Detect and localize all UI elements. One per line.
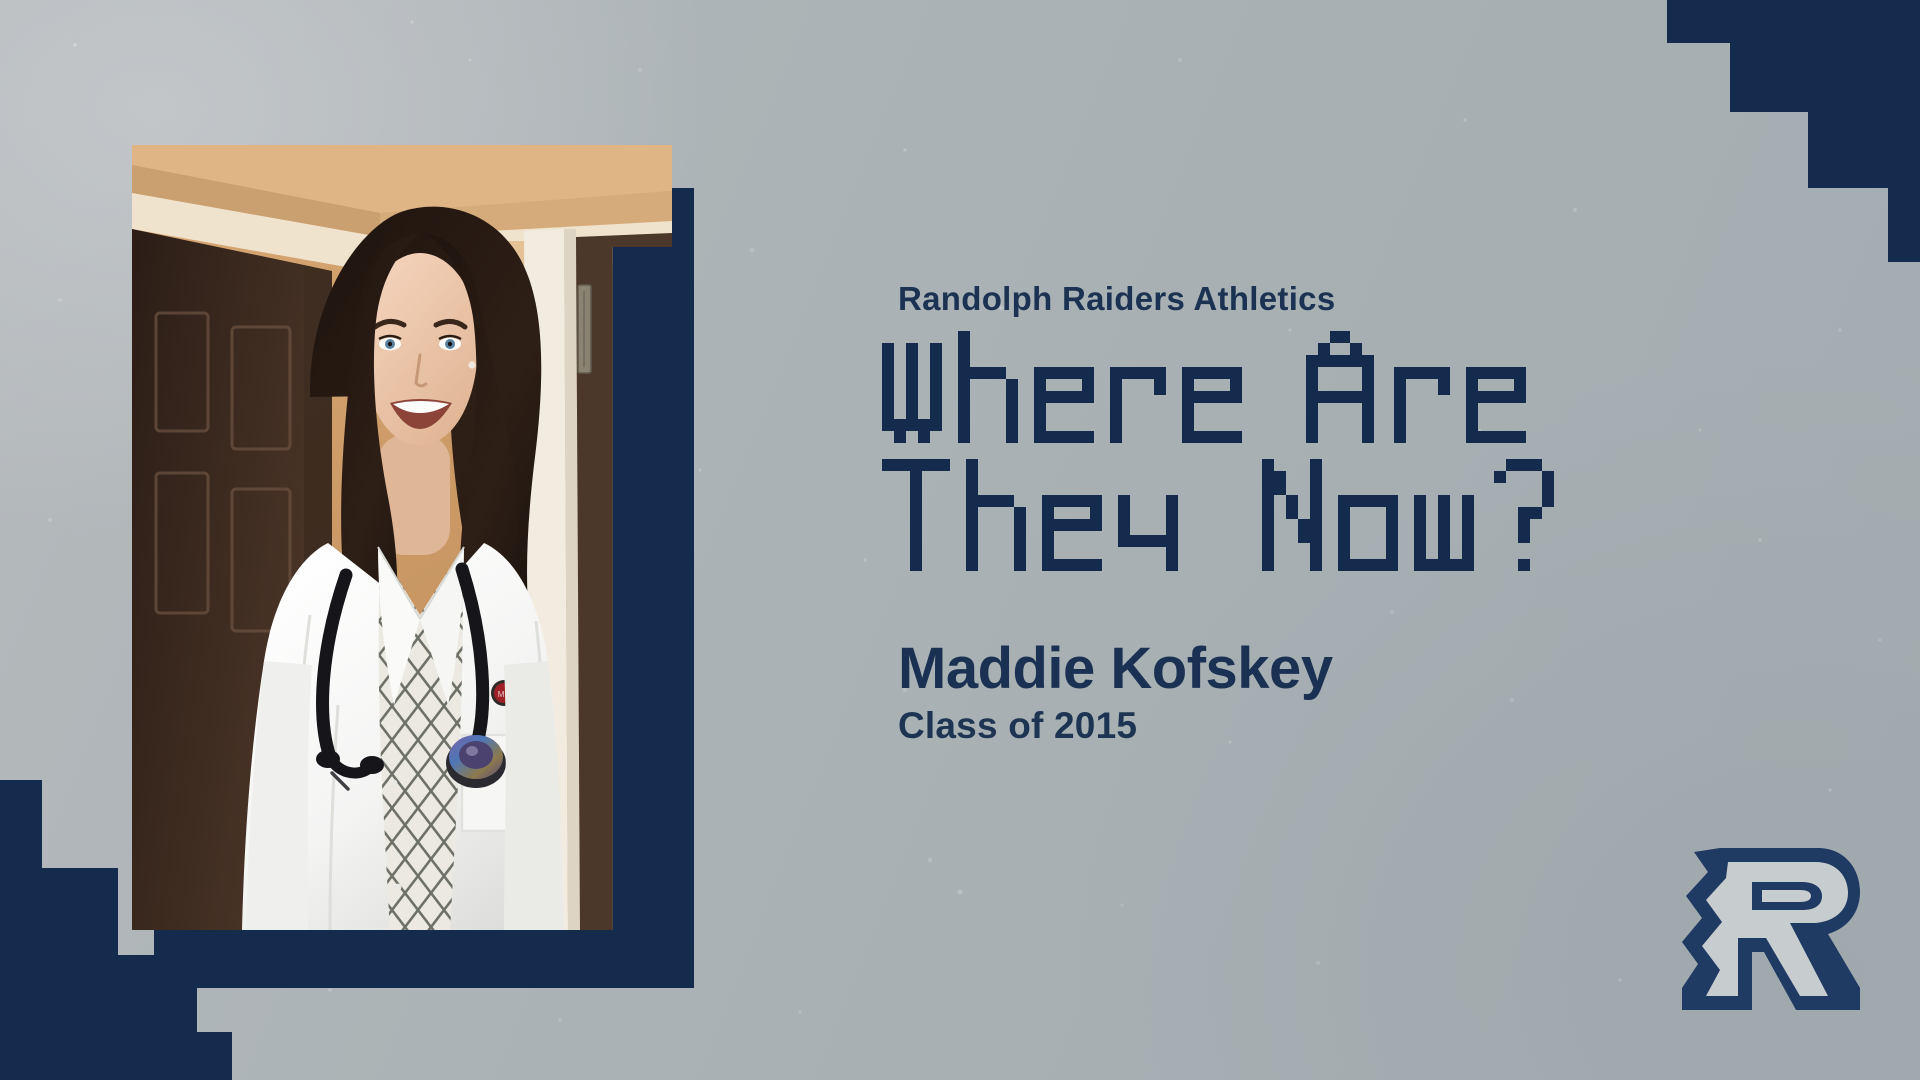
subject-photo: MD	[132, 145, 672, 930]
r-logo-icon: R	[1668, 838, 1864, 1018]
subject-photo-block: MD	[132, 145, 672, 930]
randolph-raiders-logo: R	[1668, 838, 1864, 1018]
subject-class-year: Class of 2015	[898, 706, 1858, 747]
subject-name: Maddie Kofskey	[898, 639, 1858, 700]
page-title-pixel-art	[882, 331, 1862, 571]
kicker-label: Randolph Raiders Athletics	[898, 282, 1858, 315]
subject-photo-image: MD	[132, 145, 672, 930]
headline-text-column: Randolph Raiders Athletics	[898, 282, 1858, 747]
slide-canvas: MD Randolph Raiders Athletics	[0, 0, 1920, 1080]
corner-decoration-top-right	[1620, 0, 1920, 262]
page-title: Where Are They Now?	[882, 331, 1858, 571]
